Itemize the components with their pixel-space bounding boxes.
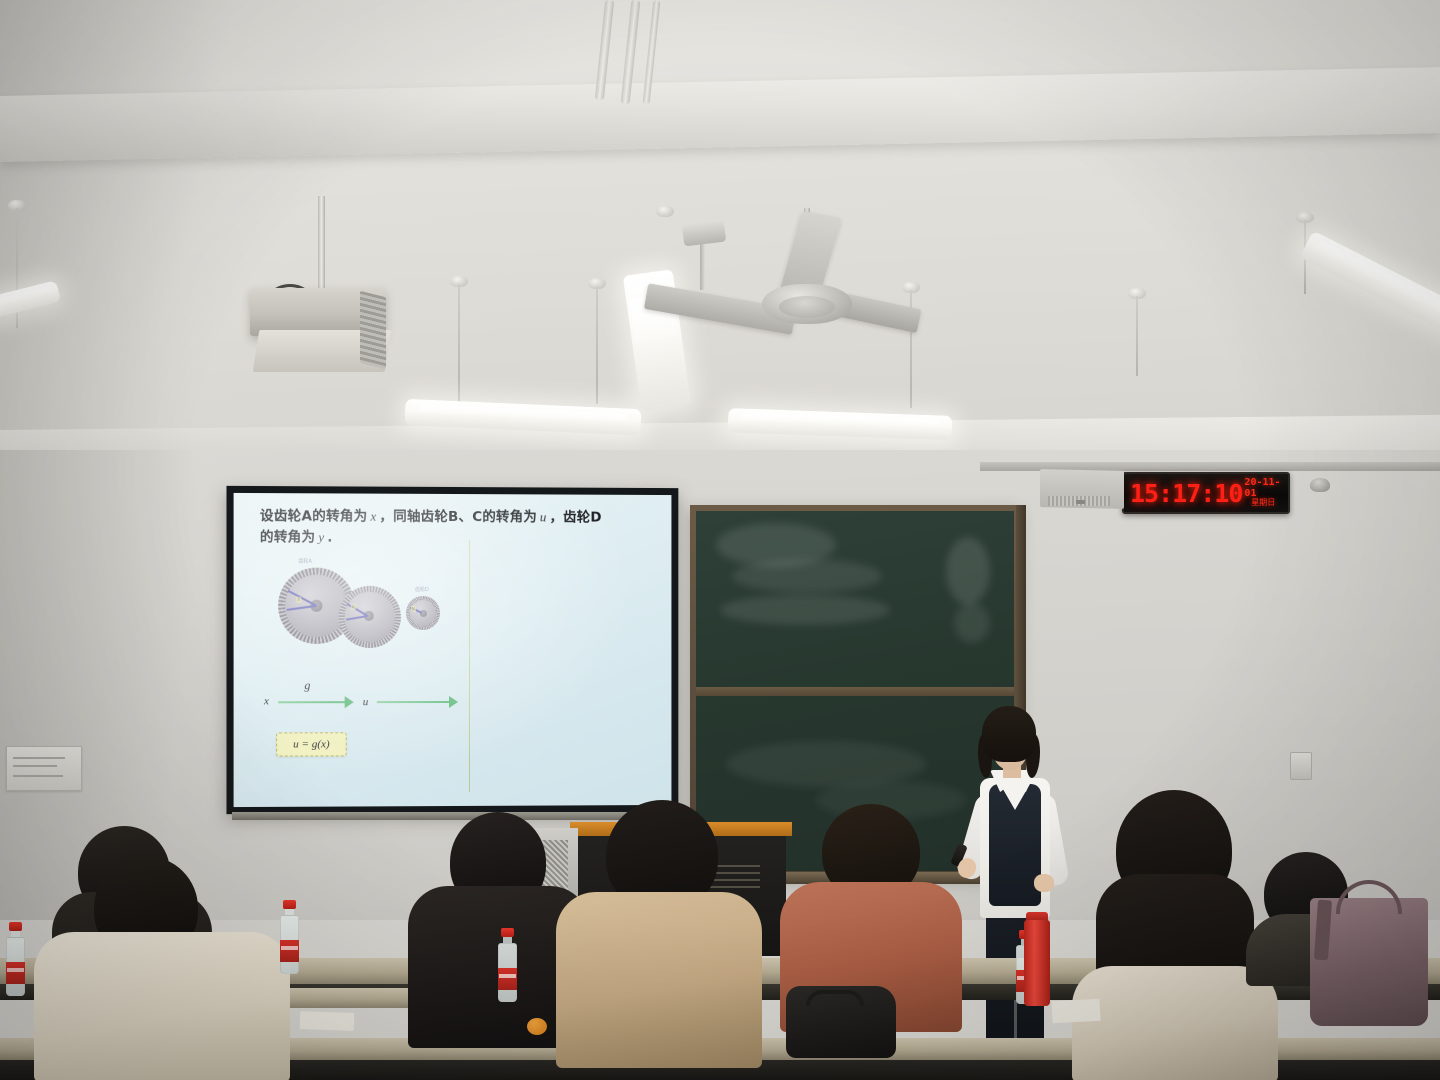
- paper-sheet: [300, 1011, 355, 1031]
- slide-var-y: y: [315, 529, 327, 544]
- classroom-photo: 15:17:10 20-11-01 星期日 设齿轮A的转角为x，同轴齿轮B、C的…: [0, 0, 1440, 1080]
- wall-notice: [6, 746, 82, 791]
- bottle-label: [280, 940, 299, 962]
- slide-heading: 设齿轮A的转角为x，同轴齿轮B、C的转角为u，齿轮D 的转角为y.: [260, 506, 634, 548]
- notice-line: [13, 775, 63, 777]
- slide-heading-part1b: ，同轴齿轮B、C的转角为: [379, 509, 537, 526]
- water-bottle: [280, 900, 299, 974]
- formula-box: u = g(x): [276, 732, 347, 756]
- bottle-cap: [9, 922, 22, 931]
- teacher-hand-right: [1034, 874, 1054, 892]
- student-body: [556, 892, 762, 1068]
- chalk-smudge: [954, 603, 990, 643]
- bottle-label: [6, 962, 25, 984]
- light-sheen: [741, 413, 938, 428]
- slide-heading-part2: 的转角为: [260, 529, 315, 545]
- arrow-head-1-icon: [345, 696, 354, 708]
- led-clock: 15:17:10 20-11-01 星期日: [1122, 472, 1290, 514]
- water-bottle: [6, 922, 25, 996]
- gear-d-angle: y: [411, 606, 416, 612]
- bottle-cap: [283, 900, 296, 909]
- slide-heading-part2b: .: [327, 529, 332, 545]
- slide-heading-part1: 设齿轮A的转角为: [260, 508, 367, 525]
- arrow-from-label: x: [264, 695, 269, 707]
- fan-hub-inner: [779, 296, 835, 318]
- ceiling-shadow: [0, 0, 250, 470]
- arrow-map-label: g: [304, 678, 310, 693]
- hanger-rod-3: [596, 286, 598, 404]
- bottle-label-text: [7, 968, 24, 972]
- hanger-rod-2: [458, 284, 460, 404]
- notice-line: [13, 765, 57, 767]
- projector-vent: [360, 291, 386, 369]
- backpack-strap: [806, 990, 864, 1006]
- arrow-line-1: [278, 701, 347, 703]
- slide-surface: 设齿轮A的转角为x，同轴齿轮B、C的转角为u，齿轮D 的转角为y. 齿轮A x …: [234, 493, 672, 807]
- clock-weekday: 星期日: [1251, 499, 1275, 507]
- arrow-head-2-icon: [449, 696, 458, 708]
- student-front-left: [34, 856, 296, 1080]
- water-bottle: [498, 928, 517, 1002]
- student-body: [34, 932, 290, 1080]
- dome-camera-icon: [1310, 478, 1330, 492]
- teacher-hair: [982, 706, 1036, 762]
- clock-date-block: 20-11-01 星期日: [1244, 478, 1282, 507]
- gear-diagram: 齿轮A x 齿轮B、C u 齿轮D: [274, 559, 475, 650]
- hanger-cap-7: [656, 206, 674, 217]
- orange-fruit: [527, 1018, 547, 1035]
- slide-var-x: x: [367, 509, 379, 524]
- chalk-smudge: [946, 537, 990, 605]
- blackboard-divider: [696, 687, 1014, 696]
- slide-var-u: u: [537, 509, 550, 524]
- arrow-to-label: u: [363, 696, 369, 708]
- paper-sheet: [1051, 999, 1100, 1023]
- notice-line: [13, 757, 65, 759]
- slide-heading-part1c: ，齿轮D: [550, 509, 602, 525]
- speaker-led-icon: [1076, 500, 1085, 504]
- gear-label-a: 齿轮A: [298, 558, 312, 565]
- hanger-rod-5: [1136, 296, 1138, 376]
- gear-a-angle: x: [296, 597, 301, 603]
- bottle-label-text: [281, 946, 298, 950]
- bottle-label-text: [499, 974, 516, 978]
- clock-time: 15:17:10: [1130, 479, 1242, 508]
- gear-label-d: 齿轮D: [415, 586, 429, 593]
- projection-screen[interactable]: 设齿轮A的转角为x，同轴齿轮B、C的转角为u，齿轮D 的转角为y. 齿轮A x …: [226, 486, 678, 814]
- teacher: lecturer: [950, 706, 1080, 1080]
- chalk-smudge: [720, 595, 890, 625]
- bottle-cap: [501, 928, 514, 937]
- gear-bc-angle: u: [351, 604, 356, 610]
- bottle-label: [498, 968, 517, 990]
- arrow-line-2: [377, 701, 451, 703]
- student-center: [552, 800, 768, 1068]
- clock-date: 20-11-01: [1244, 478, 1282, 499]
- wall-socket-icon: [1290, 752, 1312, 780]
- chalk-smudge: [732, 559, 882, 593]
- red-thermos: [1024, 920, 1050, 1006]
- mapping-arrows: x g u: [264, 690, 475, 716]
- projector-mount-pole: [318, 196, 325, 290]
- light-sheen: [419, 404, 627, 422]
